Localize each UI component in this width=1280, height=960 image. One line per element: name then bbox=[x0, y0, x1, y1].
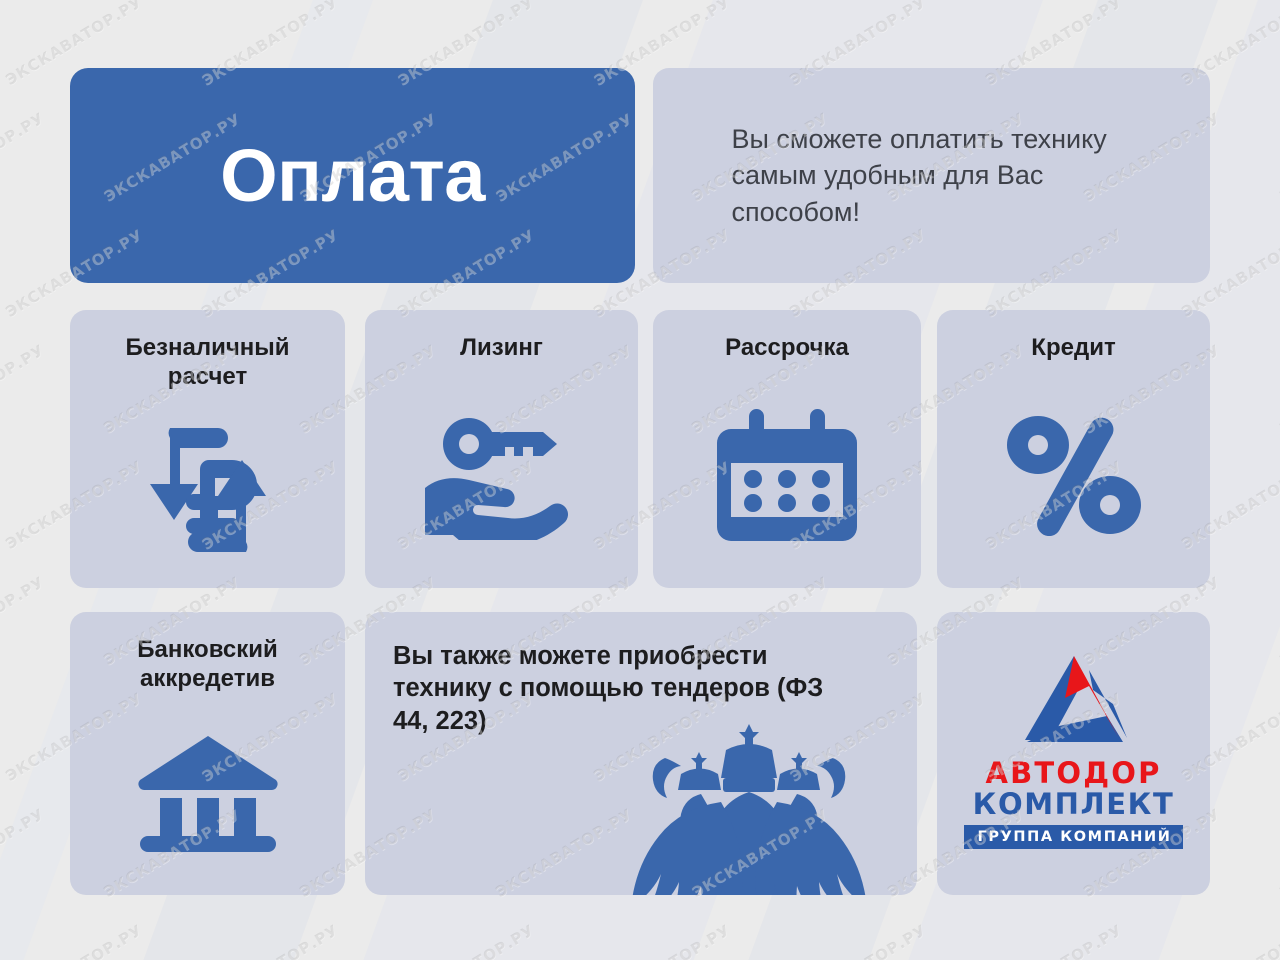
method-title: Рассрочка bbox=[711, 334, 863, 363]
watermark-text: ЭКСКАВАТОР.РУ bbox=[1277, 805, 1280, 901]
method-title: Банковский аккредетив bbox=[70, 636, 345, 694]
watermark-text: ЭКСКАВАТОР.РУ bbox=[983, 921, 1126, 960]
watermark-text: ЭКСКАВАТОР.РУ bbox=[0, 573, 48, 669]
payment-method-card-credit: Кредит bbox=[937, 310, 1210, 588]
payment-method-card-installments: Рассрочка bbox=[653, 310, 921, 588]
watermark-text: ЭКСКАВАТОР.РУ bbox=[1277, 109, 1280, 205]
watermark-text: ЭКСКАВАТОР.РУ bbox=[1277, 573, 1280, 669]
watermark-text: ЭКСКАВАТОР.РУ bbox=[199, 921, 342, 960]
watermark-text: ЭКСКАВАТОР.РУ bbox=[3, 921, 146, 960]
logo-text-group: ГРУППА КОМПАНИЙ bbox=[964, 825, 1184, 849]
hand-key-icon bbox=[365, 363, 638, 588]
bank-building-icon bbox=[70, 694, 345, 895]
page-title: Оплата bbox=[220, 139, 485, 213]
watermark-text: ЭКСКАВАТОР.РУ bbox=[0, 109, 48, 205]
watermark-text: ЭКСКАВАТОР.РУ bbox=[0, 341, 48, 437]
russian-double-headed-eagle-icon bbox=[589, 716, 909, 895]
intro-card: Вы сможете оплатить технику самым удобны… bbox=[653, 68, 1210, 283]
watermark-text: ЭКСКАВАТОР.РУ bbox=[787, 921, 930, 960]
payment-method-card-cashless: Безналичный расчет bbox=[70, 310, 345, 588]
method-title: Лизинг bbox=[446, 334, 557, 363]
payment-method-card-accreditive: Банковский аккредетив bbox=[70, 612, 345, 895]
tender-text: Вы также можете приобрести технику с пом… bbox=[365, 612, 863, 737]
company-logo-card: АВТОДОР КОМПЛЕКТ ГРУППА КОМПАНИЙ bbox=[937, 612, 1210, 895]
watermark-text: ЭКСКАВАТОР.РУ bbox=[1277, 341, 1280, 437]
autodor-triangle-logo-icon bbox=[1015, 652, 1133, 748]
watermark-text: ЭКСКАВАТОР.РУ bbox=[395, 921, 538, 960]
watermark-text: ЭКСКАВАТОР.РУ bbox=[591, 921, 734, 960]
calendar-icon bbox=[653, 363, 921, 588]
tender-info-card: Вы также можете приобрести технику с пом… bbox=[365, 612, 917, 895]
watermark-text: ЭКСКАВАТОР.РУ bbox=[0, 805, 48, 901]
payment-method-card-leasing: Лизинг bbox=[365, 310, 638, 588]
intro-text: Вы сможете оплатить технику самым удобны… bbox=[732, 121, 1132, 230]
percent-icon bbox=[937, 363, 1210, 588]
hero-card: Оплата bbox=[70, 68, 635, 283]
infographic-canvas: Оплата Вы сможете оплатить технику самым… bbox=[0, 0, 1280, 960]
logo-text-komplekt: КОМПЛЕКТ bbox=[973, 787, 1175, 821]
logo-text-autodor: АВТОДОР bbox=[985, 756, 1161, 790]
method-title: Кредит bbox=[1017, 334, 1129, 363]
method-title: Безналичный расчет bbox=[70, 334, 345, 392]
watermark-text: ЭКСКАВАТОР.РУ bbox=[1179, 921, 1280, 960]
ruble-transfer-icon bbox=[70, 392, 345, 588]
